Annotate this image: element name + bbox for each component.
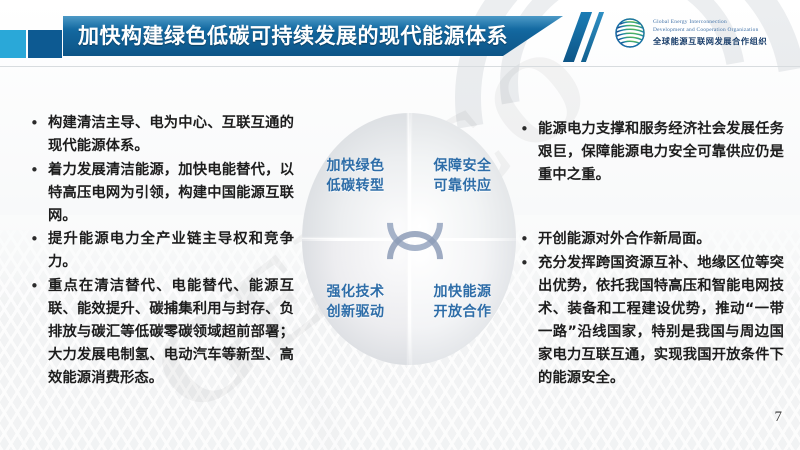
bullet-text: 能源电力支撑和服务经济社会发展任务艰巨，保障能源电力安全可靠供应仍是重中之重。 xyxy=(538,118,784,187)
quadrant-label-line-1: 加快绿色 xyxy=(327,156,385,176)
quadrant-bottom-left-label: 强化技术 创新驱动 xyxy=(327,282,385,322)
logo-text-block: Global Energy Interconnection Developmen… xyxy=(653,19,767,47)
logo-english-line-1: Global Energy Interconnection xyxy=(653,19,767,26)
quadrant-top-left-label: 加快绿色 低碳转型 xyxy=(327,156,385,196)
quadrant-label-line-2: 可靠供应 xyxy=(434,176,492,196)
list-item: • 重点在清洁替代、电能替代、能源互联、能效提升、碳捕集利用与封存、负排放与碳汇… xyxy=(26,275,294,390)
geidco-logo: Global Energy Interconnection Developmen… xyxy=(614,17,767,49)
globe-logo-icon xyxy=(614,17,646,49)
quadrant-label-line-1: 保障安全 xyxy=(434,156,492,176)
list-item: • 充分发挥跨国资源互补、地缘区位等突出优势，依托我国特高压和智能电网技术、装备… xyxy=(516,252,784,390)
logo-english-line-2: Development and Cooperation Organization xyxy=(653,27,767,34)
slide-header: 加快构建绿色低碳可持续发展的现代能源体系 xyxy=(0,0,800,72)
bullet-text: 开创能源对外合作新局面。 xyxy=(538,228,784,251)
header-cyan-accent-square xyxy=(0,30,26,58)
bullet-marker-icon: • xyxy=(26,112,48,158)
list-item: • 能源电力支撑和服务经济社会发展任务艰巨，保障能源电力安全可靠供应仍是重中之重… xyxy=(516,118,784,187)
list-item: • 着力发展清洁能源，加快电能替代，以特高压电网为引领，构建中国能源互联网。 xyxy=(26,159,294,228)
bullet-marker-icon: • xyxy=(26,275,48,390)
right-bottom-bullet-block: • 开创能源对外合作新局面。 • 充分发挥跨国资源互补、地缘区位等突出优势，依托… xyxy=(516,228,784,391)
bullet-marker-icon: • xyxy=(516,252,538,390)
bullet-text: 重点在清洁替代、电能替代、能源互联、能效提升、碳捕集利用与封存、负排放与碳汇等低… xyxy=(48,275,294,390)
four-quadrant-circle-diagram: 加快绿色 低碳转型 保障安全 可靠供应 强化技术 创新驱动 加快能源 开放合作 xyxy=(302,113,516,365)
quadrant-label-line-2: 创新驱动 xyxy=(327,302,385,322)
logo-chinese-name: 全球能源互联网发展合作组织 xyxy=(653,35,767,47)
bullet-text: 充分发挥跨国资源互补、地缘区位等突出优势，依托我国特高压和智能电网技术、装备和工… xyxy=(538,252,784,390)
left-bottom-bullet-block: • 提升能源电力全产业链主导权和竞争力。 • 重点在清洁替代、电能替代、能源互联… xyxy=(26,228,294,391)
right-top-bullet-block: • 能源电力支撑和服务经济社会发展任务艰巨，保障能源电力安全可靠供应仍是重中之重… xyxy=(516,118,784,188)
list-item: • 提升能源电力全产业链主导权和竞争力。 xyxy=(26,228,294,274)
bullet-text: 构建清洁主导、电为中心、互联互通的现代能源体系。 xyxy=(48,112,294,158)
bullet-text: 着力发展清洁能源，加快电能替代，以特高压电网为引领，构建中国能源互联网。 xyxy=(48,159,294,228)
bullet-marker-icon: • xyxy=(516,228,538,251)
bullet-text: 提升能源电力全产业链主导权和竞争力。 xyxy=(48,228,294,274)
quadrant-label-line-1: 强化技术 xyxy=(327,282,385,302)
slide: GEIDCO 加快构建绿色低碳可持续发展的现代能源体系 xyxy=(0,0,800,450)
bullet-marker-icon: • xyxy=(516,118,538,187)
page-title: 加快构建绿色低碳可持续发展的现代能源体系 xyxy=(78,20,538,52)
quadrant-label-line-2: 低碳转型 xyxy=(327,176,385,196)
list-item: • 开创能源对外合作新局面。 xyxy=(516,228,784,251)
header-divider xyxy=(0,66,800,67)
bullet-marker-icon: • xyxy=(26,159,48,228)
page-number: 7 xyxy=(775,409,783,426)
bullet-marker-icon: • xyxy=(26,228,48,274)
quadrant-label-line-1: 加快能源 xyxy=(434,282,492,302)
quadrant-top-right-label: 保障安全 可靠供应 xyxy=(434,156,492,196)
quadrant-label-line-2: 开放合作 xyxy=(434,302,492,322)
list-item: • 构建清洁主导、电为中心、互联互通的现代能源体系。 xyxy=(26,112,294,158)
quadrant-bottom-right-label: 加快能源 开放合作 xyxy=(434,282,492,322)
header-navy-accent-square xyxy=(28,30,62,58)
left-top-bullet-block: • 构建清洁主导、电为中心、互联互通的现代能源体系。 • 着力发展清洁能源，加快… xyxy=(26,112,294,229)
